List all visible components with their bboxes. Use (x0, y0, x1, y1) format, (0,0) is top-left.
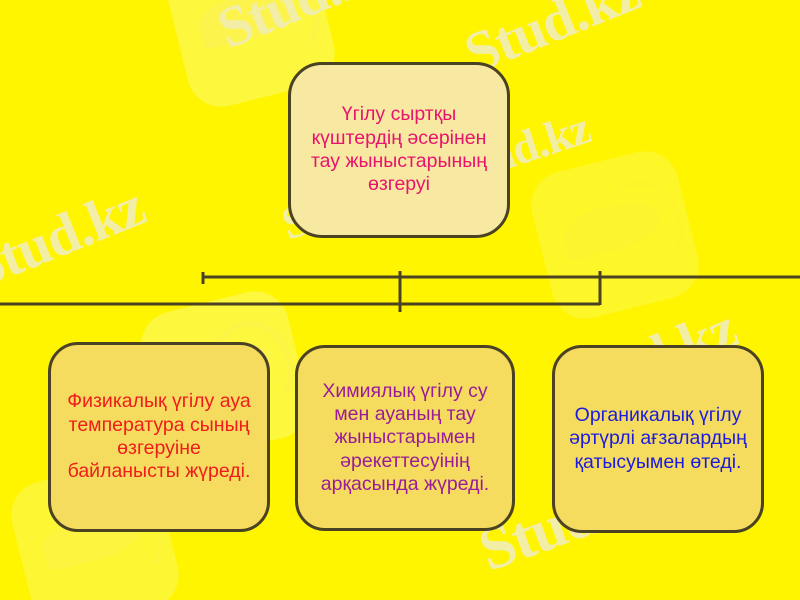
diagram-canvas: Stud.kz Stud.kz Stud.kz - Stud.kz Stud.k… (0, 0, 800, 600)
weathering-definition-label: Үгілу сыртқы күштердің әсерінен тау жыны… (299, 103, 499, 197)
organic-weathering-label: Органикалық үгілу әртүрлі ағзалардың қат… (563, 404, 753, 474)
chemical-weathering-label: Химиялық үгілу су мен ауаның тау жыныста… (306, 380, 504, 497)
weathering-definition-box[interactable]: Үгілу сыртқы күштердің әсерінен тау жыны… (288, 62, 510, 238)
organic-weathering-box[interactable]: Органикалық үгілу әртүрлі ағзалардың қат… (552, 345, 764, 533)
chemical-weathering-box[interactable]: Химиялық үгілу су мен ауаның тау жыныста… (295, 345, 515, 531)
physical-weathering-box[interactable]: Физикалық үгілу ауа температура сының өз… (48, 342, 270, 532)
physical-weathering-label: Физикалық үгілу ауа температура сының өз… (59, 390, 259, 484)
